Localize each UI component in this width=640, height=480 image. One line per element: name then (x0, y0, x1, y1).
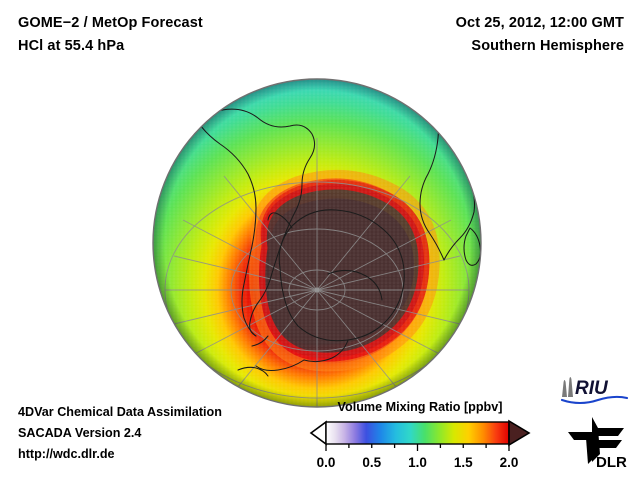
limb-shading (153, 79, 481, 407)
colorbar-tick-1: 0.5 (362, 455, 381, 470)
header-right-block: Oct 25, 2012, 12:00 GMT Southern Hemisph… (456, 12, 624, 58)
colorbar-tick-labels: 0.0 0.5 1.0 1.5 2.0 (317, 455, 519, 470)
globe-map (152, 78, 482, 408)
species-level-subtitle: HCl at 55.4 hPa (18, 35, 203, 58)
orthographic-projection (152, 78, 482, 408)
colorbar-block: Volume Mixing Ratio [ppbv] (306, 400, 534, 474)
colorbar-under-arrow (311, 422, 326, 444)
colorbar-gradient (326, 422, 509, 444)
colorbar-over-arrow (509, 421, 529, 445)
riu-logo: RIU (558, 373, 630, 405)
riu-wordmark: RIU (575, 378, 609, 399)
hemisphere-label: Southern Hemisphere (456, 35, 624, 58)
website-url[interactable]: http://wdc.dlr.de (18, 444, 222, 465)
colorbar-title: Volume Mixing Ratio [ppbv] (306, 400, 534, 414)
header-left-block: GOME−2 / MetOp Forecast HCl at 55.4 hPa (18, 12, 203, 58)
version-label: SACADA Version 2.4 (18, 423, 222, 444)
colorbar: 0.0 0.5 1.0 1.5 2.0 (306, 418, 534, 474)
colorbar-tick-2: 1.0 (408, 455, 427, 470)
dlr-logo: DLR (562, 414, 630, 472)
colorbar-tick-3: 1.5 (454, 455, 473, 470)
footer-credits: 4DVar Chemical Data Assimilation SACADA … (18, 402, 222, 465)
riu-tower-icon (562, 377, 573, 397)
timestamp-label: Oct 25, 2012, 12:00 GMT (456, 12, 624, 35)
dlr-logo-graphic: DLR (562, 414, 630, 472)
riu-logo-graphic: RIU (558, 373, 630, 405)
colorbar-tick-0: 0.0 (317, 455, 336, 470)
colorbar-tick-4: 2.0 (500, 455, 519, 470)
method-label: 4DVar Chemical Data Assimilation (18, 402, 222, 423)
dlr-wordmark: DLR (596, 454, 627, 471)
colorbar-ticks (326, 444, 509, 451)
dataset-title: GOME−2 / MetOp Forecast (18, 12, 203, 35)
